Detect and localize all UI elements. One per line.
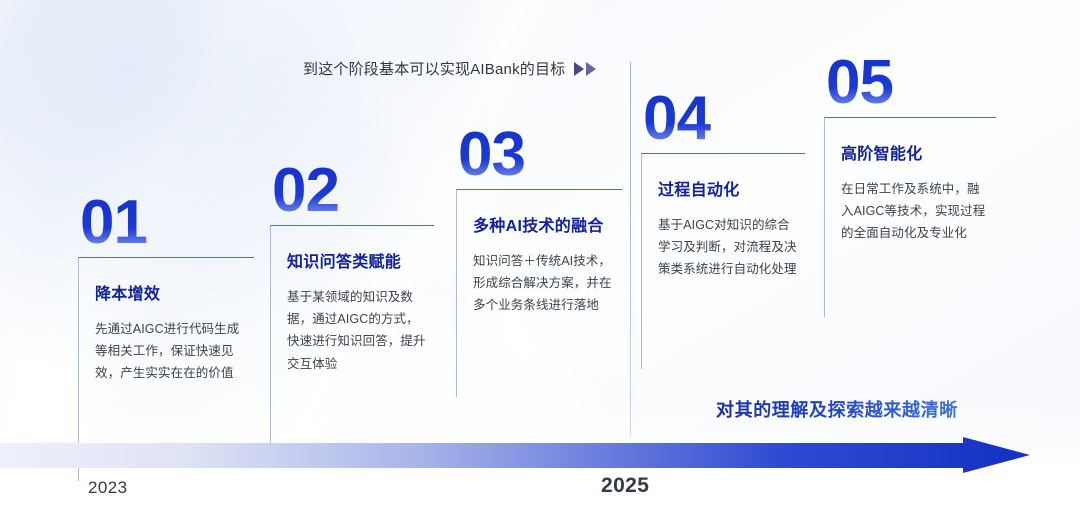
step-description: 基于某领域的知识及数据，通过AIGC的方式，快速进行知识回答，提升交互体验	[287, 286, 428, 375]
step-number: 04	[641, 94, 805, 145]
infographic-canvas: 到这个阶段基本可以实现AIBank的目标 01 降本增效 先通过AIGC进行代码…	[0, 0, 1080, 520]
step-description: 基于AIGC对知识的综合学习及判断，对流程及决策类系统进行自动化处理	[658, 214, 799, 281]
step-item-05: 05 高阶智能化 在日常工作及系统中，融入AIGC等技术，实现过程的全面自动化及…	[824, 58, 996, 317]
year-divider-line	[630, 62, 631, 436]
timeline-start-year: 2023	[88, 478, 127, 498]
step-card: 多种AI技术的融合 知识问答＋传统AI技术，形成综合解决方案，并在多个业务条线进…	[456, 189, 622, 397]
step-description: 在日常工作及系统中，融入AIGC等技术，实现过程的全面自动化及专业化	[841, 178, 990, 245]
chevron-right-icon-2	[586, 62, 596, 76]
double-chevron-right-icon	[574, 62, 596, 76]
step-title: 多种AI技术的融合	[473, 212, 616, 236]
step-item-02: 02 知识问答类赋能 基于某领域的知识及数据，通过AIGC的方式，快速进行知识回…	[270, 166, 434, 457]
top-annotation-text: 到这个阶段基本可以实现AIBank的目标	[303, 58, 565, 79]
step-title: 过程自动化	[658, 176, 799, 200]
step-title: 知识问答类赋能	[287, 248, 428, 272]
step-title: 降本增效	[95, 280, 248, 304]
step-description: 先通过AIGC进行代码生成等相关工作，保证快速见效，产生实实在在的价值	[95, 318, 248, 385]
chevron-right-icon-1	[574, 62, 584, 76]
step-number: 05	[824, 58, 996, 109]
step-number: 01	[78, 198, 254, 249]
step-item-04: 04 过程自动化 基于AIGC对知识的综合学习及判断，对流程及决策类系统进行自动…	[641, 94, 805, 369]
timeline-end-year: 2025	[601, 474, 649, 498]
step-card: 高阶智能化 在日常工作及系统中，融入AIGC等技术，实现过程的全面自动化及专业化	[824, 117, 996, 317]
step-number: 03	[456, 130, 622, 181]
tagline-text: 对其的理解及探索越来越清晰	[716, 396, 958, 422]
step-item-03: 03 多种AI技术的融合 知识问答＋传统AI技术，形成综合解决方案，并在多个业务…	[456, 130, 622, 397]
top-annotation: 到这个阶段基本可以实现AIBank的目标	[303, 58, 596, 79]
step-card: 过程自动化 基于AIGC对知识的综合学习及判断，对流程及决策类系统进行自动化处理	[641, 153, 805, 369]
step-description: 知识问答＋传统AI技术，形成综合解决方案，并在多个业务条线进行落地	[473, 250, 616, 317]
step-card: 知识问答类赋能 基于某领域的知识及数据，通过AIGC的方式，快速进行知识回答，提…	[270, 225, 434, 457]
step-title: 高阶智能化	[841, 140, 990, 164]
timeline-arrow	[0, 437, 1080, 493]
step-number: 02	[270, 166, 434, 217]
